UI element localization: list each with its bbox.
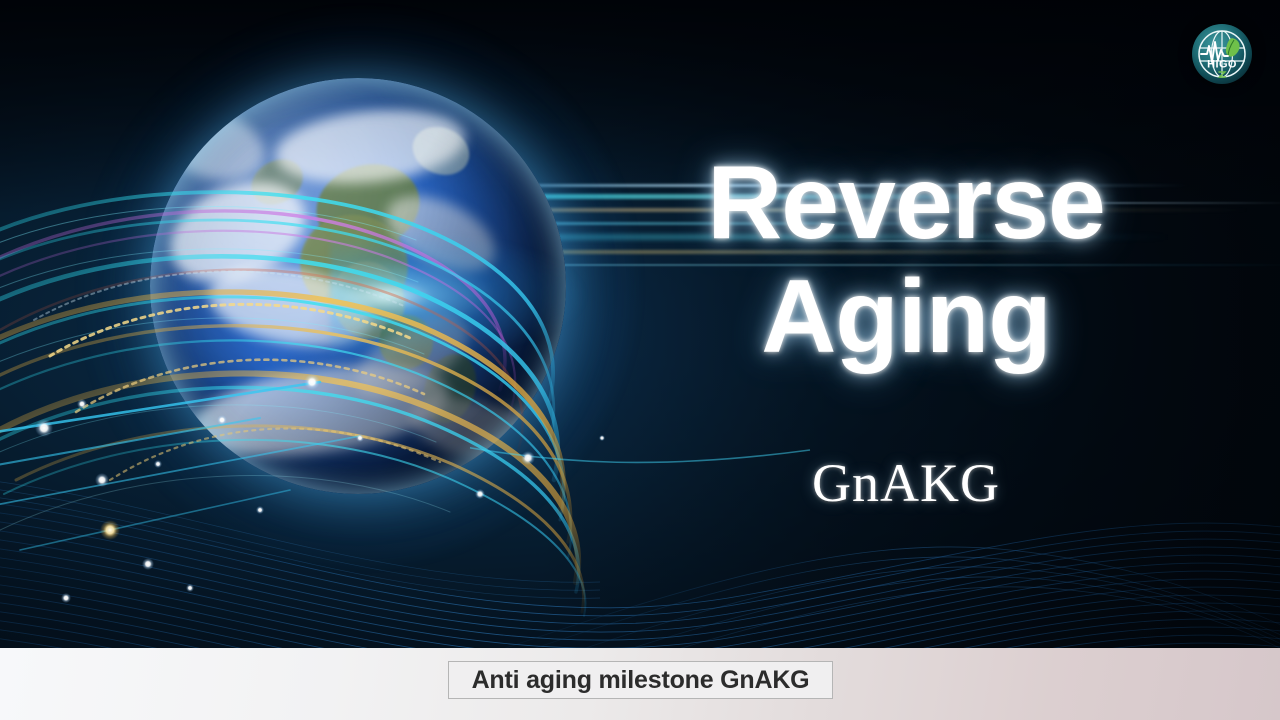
caption-text: Anti aging milestone GnAKG	[472, 666, 810, 695]
slide-subtitle: GnAKG	[596, 452, 1216, 514]
slide-title: Reverse Aging	[596, 150, 1216, 370]
caption-box[interactable]: Anti aging milestone GnAKG	[448, 661, 833, 699]
higo-globe-leaf-logo[interactable]: HIGO	[1190, 22, 1254, 86]
title-line-2: Aging	[596, 264, 1216, 370]
svg-text:HIGO: HIGO	[1207, 59, 1237, 71]
presentation-slide: Reverse Aging GnAKG	[0, 0, 1280, 720]
title-line-1: Reverse	[596, 150, 1216, 256]
